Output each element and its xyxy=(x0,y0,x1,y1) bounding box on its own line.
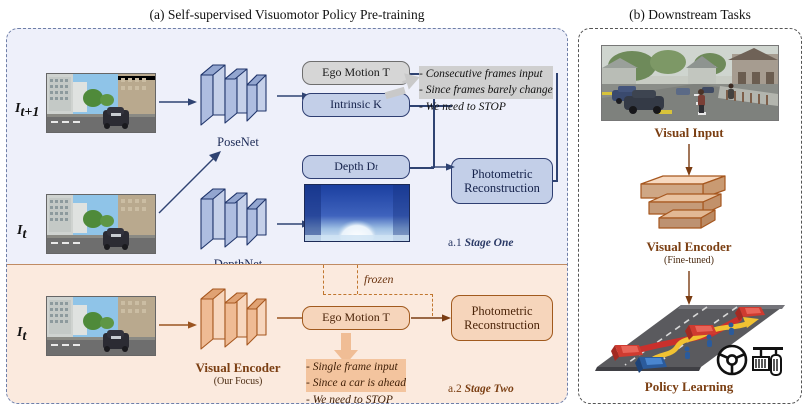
downstream-visual-encoder-icon xyxy=(641,174,741,236)
stage-two-tag-prefix: a.2 xyxy=(448,383,465,395)
frozen-dashed-line-right xyxy=(357,265,358,294)
box-ego-motion-stage-two: Ego Motion T xyxy=(302,306,410,330)
stage-two-note-3: - We need to STOP xyxy=(306,392,406,404)
stage-two-tag: a.2 Stage Two xyxy=(448,383,514,395)
stage-one-tag-name: Stage One xyxy=(465,237,514,249)
stage-two-input-label: It xyxy=(17,323,26,345)
input-frame-t-plus-1-label: It+1 xyxy=(15,99,39,121)
box-depth-subscript: t xyxy=(375,162,378,172)
posenet-network-icon xyxy=(195,57,281,135)
downstream-encoder-sublabel: (Fine-tuned) xyxy=(601,255,777,266)
box-depth-label: Depth D xyxy=(334,160,375,173)
box-photometric-reconstruction-stage-one: Photometric Reconstruction xyxy=(451,158,553,204)
label-I-bottom-subscript: t xyxy=(22,227,26,242)
stage-two-input-image xyxy=(46,296,156,356)
stage-one-tag: a.1 Stage One xyxy=(448,237,513,249)
panel-downstream-tasks: Visual Input Visual Encoder (Fine-tuned) xyxy=(578,28,802,404)
figure-title-a: (a) Self-supervised Visuomotor Policy Pr… xyxy=(6,7,568,23)
visual-encoder-network-icon xyxy=(195,281,281,359)
photometric-line-1: Photometric xyxy=(471,167,532,181)
photometric-o-line-2: Reconstruction xyxy=(464,318,540,332)
depth-map-image xyxy=(304,184,410,242)
stage-one-note-3: - We need to STOP xyxy=(419,99,553,115)
downstream-encoder-label: Visual Encoder xyxy=(601,239,777,255)
stage-two-region: It xyxy=(7,264,567,404)
stage-two-note-1: - Single frame input xyxy=(306,359,406,375)
connector-photometric-return-h xyxy=(553,180,558,182)
stage-one-region: It+1 xyxy=(7,29,567,264)
box-ego-motion-stage-one-label: Ego Motion T xyxy=(322,66,390,79)
arrow-bus-to-photometric xyxy=(431,160,455,174)
figure-title-b: (b) Downstream Tasks xyxy=(578,7,802,23)
stage-two-tag-name: Stage Two xyxy=(465,383,514,395)
depthnet-network-icon xyxy=(195,181,281,259)
input-image-t-plus-1 xyxy=(46,73,156,133)
label-I-stage-two-subscript: t xyxy=(22,329,26,344)
frozen-dashed-line-down xyxy=(432,294,433,316)
input-frame-t-label: It xyxy=(17,221,26,243)
box-ego-motion-stage-two-label: Ego Motion T xyxy=(322,311,390,324)
box-photometric-reconstruction-stage-two: Photometric Reconstruction xyxy=(451,295,553,341)
policy-learning-label: Policy Learning xyxy=(601,379,777,395)
visual-input-label: Visual Input xyxy=(601,125,777,141)
arrow-ego-motion-to-photometric-stage-two xyxy=(411,311,451,325)
stage-one-note-1: - Consecutive frames input xyxy=(419,66,553,82)
policy-learning-scene xyxy=(589,305,793,379)
stage-one-note-2: - Since frames barely change xyxy=(419,82,553,98)
frozen-label: frozen xyxy=(364,272,394,287)
stage-one-notes: - Consecutive frames input - Since frame… xyxy=(419,66,553,115)
photometric-o-line-1: Photometric xyxy=(471,304,532,318)
photometric-line-2: Reconstruction xyxy=(464,181,540,195)
frozen-dashed-line-left xyxy=(323,265,324,294)
pedals-icon xyxy=(753,347,783,375)
stage-one-tag-prefix: a.1 xyxy=(448,237,465,249)
arrow-encoder-to-policy xyxy=(682,271,696,305)
visual-encoder-label: Visual Encoder xyxy=(175,360,301,376)
input-image-t xyxy=(46,194,156,254)
downstream-visual-input-image xyxy=(601,45,779,121)
arrow-input-to-visual-encoder xyxy=(159,318,197,332)
arrow-visual-input-to-encoder xyxy=(682,144,696,176)
panel-pretraining: It+1 xyxy=(6,28,568,404)
arrow-input-to-posenet xyxy=(159,95,197,109)
visual-encoder-sublabel: (Our Focus) xyxy=(175,376,301,387)
stage-two-note-2: - Since a car is ahead xyxy=(306,375,406,391)
steering-wheel-icon xyxy=(718,346,746,374)
frozen-dashed-line-horizontal xyxy=(323,294,433,295)
connector-photometric-return xyxy=(556,73,558,181)
label-I-subscript: t+1 xyxy=(20,105,39,120)
stage-two-notes: - Single frame input - Since a car is ah… xyxy=(306,359,406,404)
box-depth: Depth Dt xyxy=(302,155,410,179)
box-intrinsic-k-label: Intrinsic K xyxy=(330,98,382,111)
